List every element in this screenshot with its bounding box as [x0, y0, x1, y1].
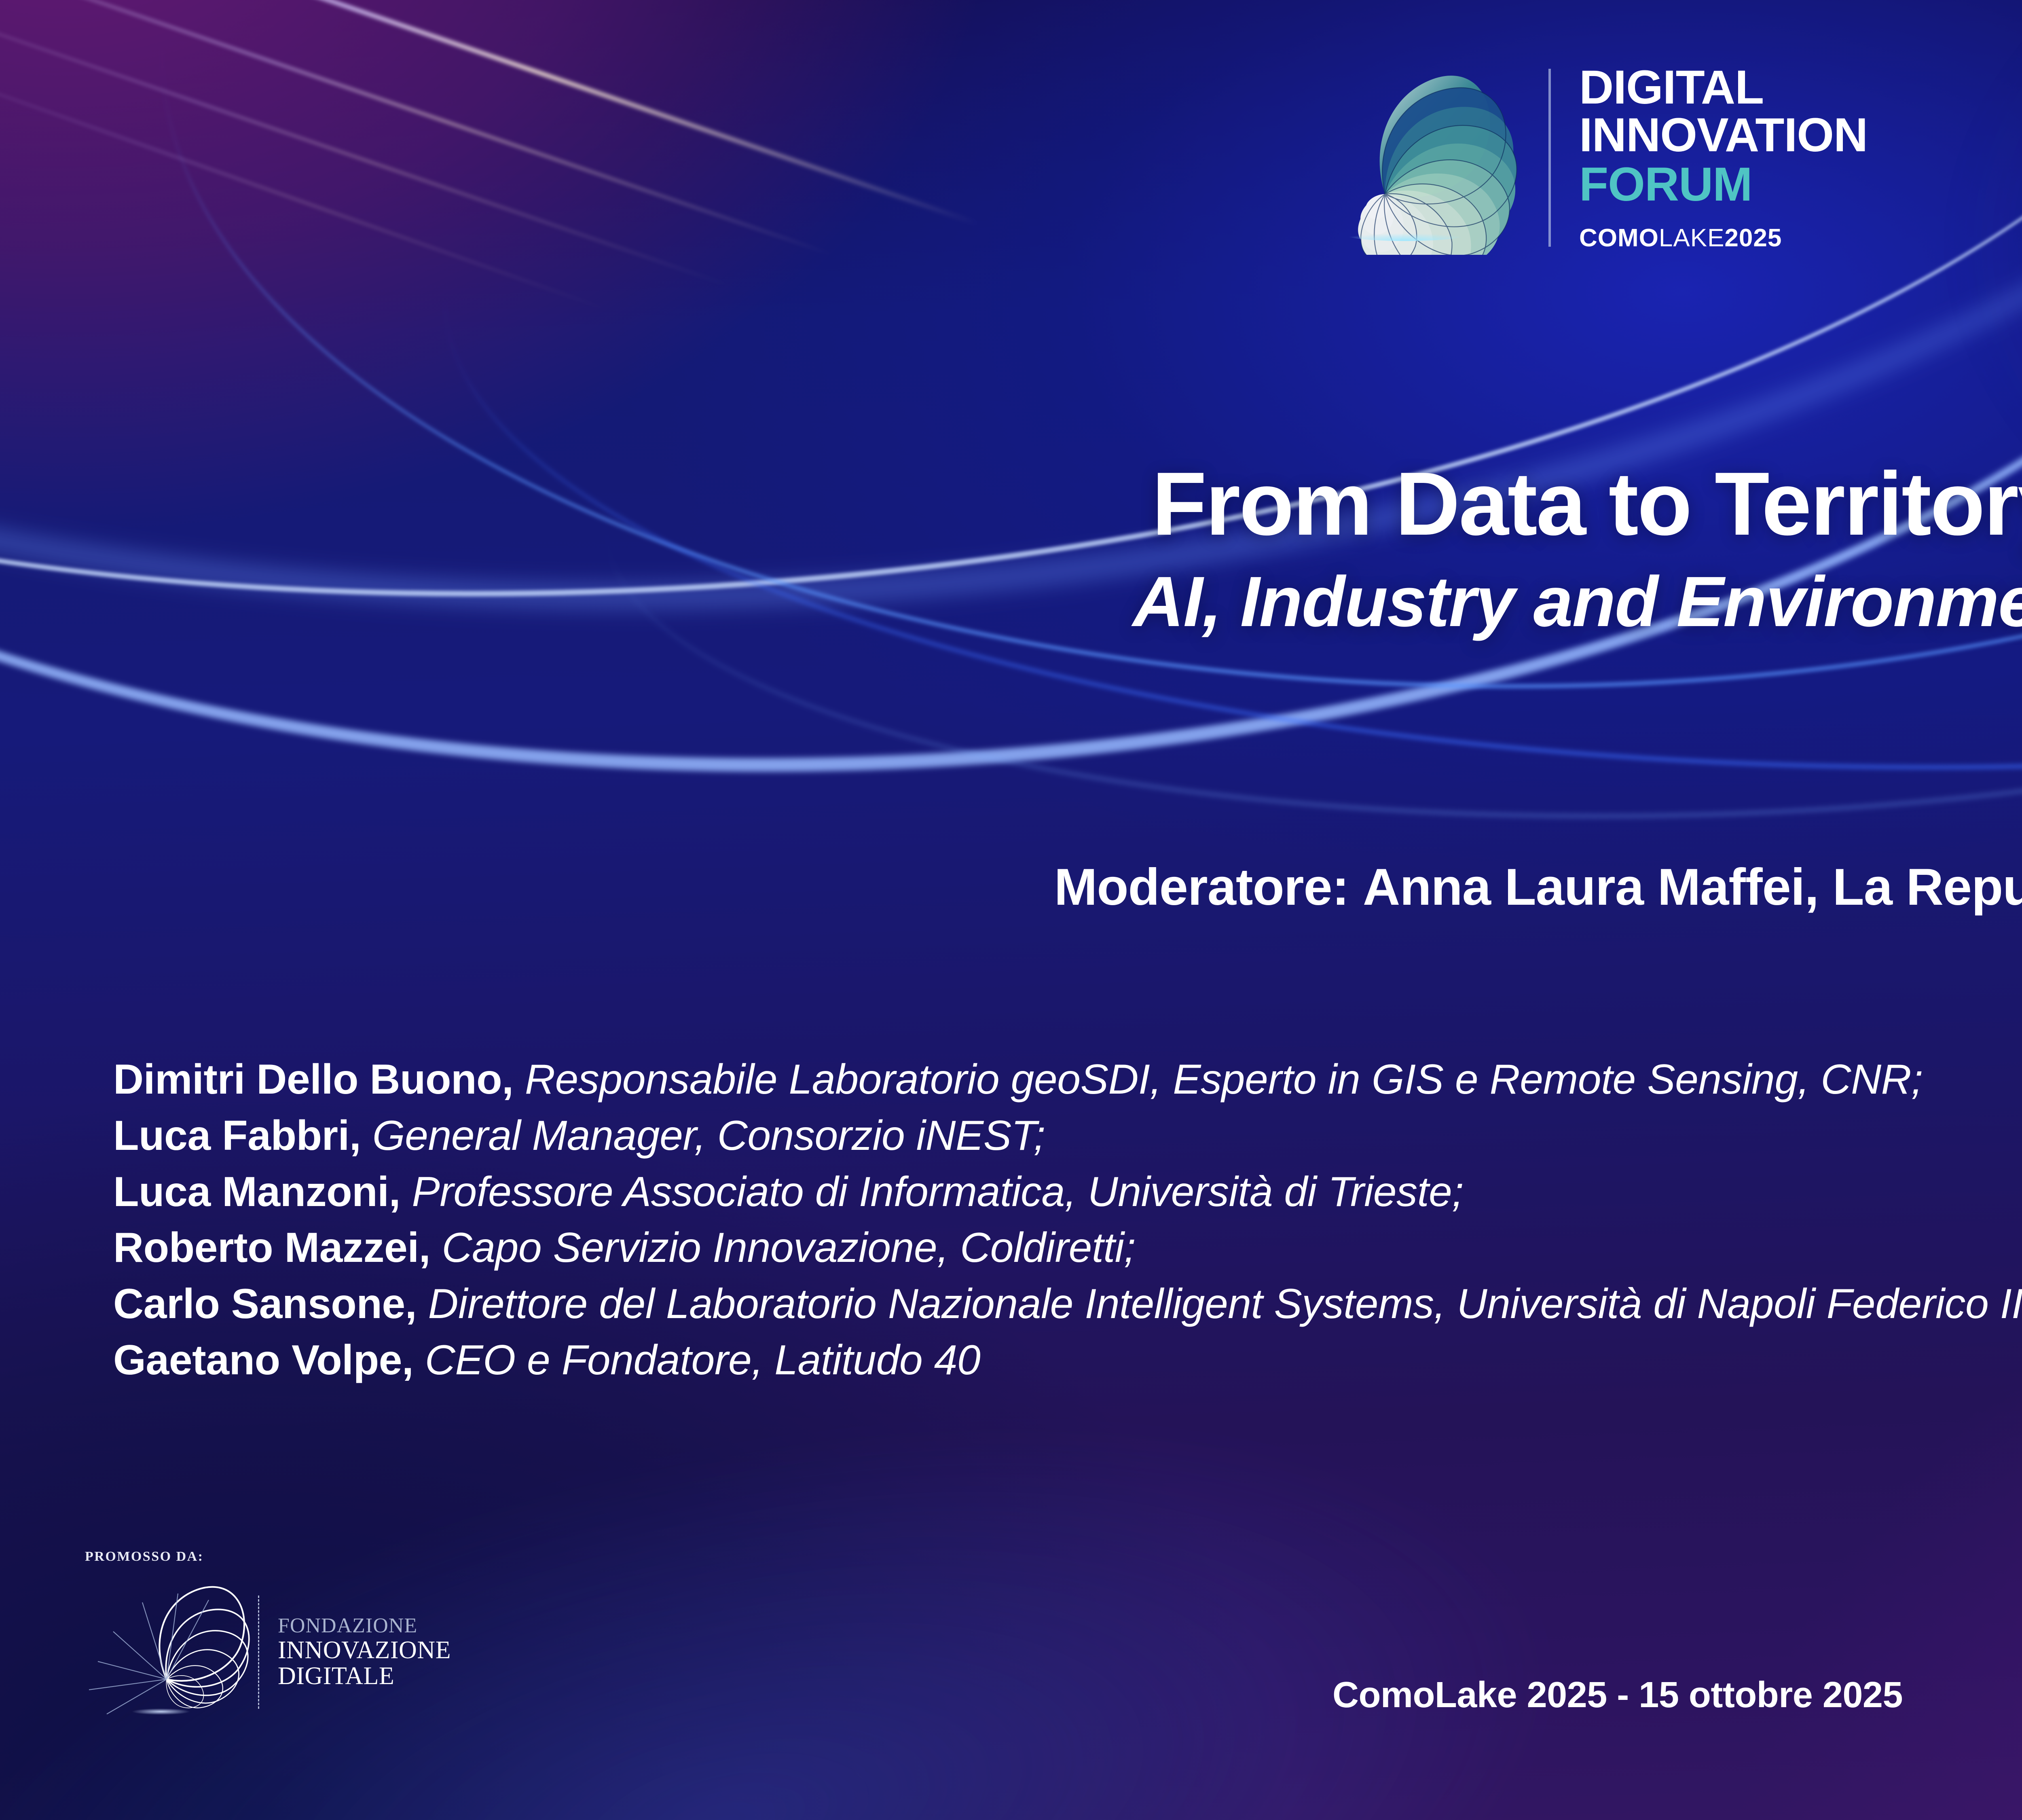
speakers-list: Dimitri Dello Buono, Responsabile Labora… [113, 1052, 2022, 1388]
list-item: Carlo Sansone, Direttore del Laboratorio… [113, 1276, 2022, 1332]
speaker-role: Professore Associato di Informatica, Uni… [400, 1168, 1464, 1215]
list-item: Roberto Mazzei, Capo Servizio Innovazion… [113, 1220, 2022, 1276]
presentation-slide: DIGITAL INNOVATION FORUM COMOLAKE2025 Se… [0, 0, 2022, 1820]
logo-year: 2025 [1724, 224, 1782, 252]
list-item: Dimitri Dello Buono, Responsabile Labora… [113, 1052, 2022, 1108]
speaker-name: Luca Manzoni, [113, 1168, 400, 1215]
logo-line-digital: DIGITAL [1579, 63, 1868, 111]
title-block: From Data to Territory. AI, Industry and… [0, 457, 2022, 643]
moderator-name: Anna Laura Maffei, La Repubblica [1363, 858, 2022, 916]
speaker-name: Carlo Sansone, [113, 1280, 417, 1327]
page-title: From Data to Territory. [0, 457, 2022, 551]
speaker-name: Dimitri Dello Buono, [113, 1056, 514, 1103]
moderator-line: Moderatore: Anna Laura Maffei, La Repubb… [0, 857, 2022, 917]
fondazione-line-2: INNOVAZIONE [278, 1637, 451, 1663]
nautilus-shell-icon [1308, 61, 1535, 255]
speaker-name: Roberto Mazzei, [113, 1224, 430, 1271]
promoted-by-label: PROMOSSO DA: [85, 1549, 204, 1564]
logo-wordmark: DIGITAL INNOVATION FORUM COMOLAKE2025 [1579, 63, 1868, 252]
list-item: Gaetano Volpe, CEO e Fondatore, Latitudo… [113, 1332, 2022, 1388]
event-date: ComoLake 2025 - 15 ottobre 2025 [0, 1674, 2022, 1716]
speaker-role: Capo Servizio Innovazione, Coldiretti; [430, 1224, 1136, 1271]
logo-line-innovation: INNOVATION [1579, 111, 1868, 159]
list-item: Luca Fabbri, General Manager, Consorzio … [113, 1108, 2022, 1164]
logo-como: COMO [1579, 224, 1659, 252]
slide-header: DIGITAL INNOVATION FORUM COMOLAKE2025 Se… [0, 0, 2022, 364]
logo-line-comolake2025: COMOLAKE2025 [1579, 224, 1868, 252]
speaker-name: Gaetano Volpe, [113, 1337, 413, 1384]
digital-innovation-forum-logo: DIGITAL INNOVATION FORUM COMOLAKE2025 [1308, 61, 1868, 255]
fondazione-line-1: FONDAZIONE [278, 1615, 451, 1637]
logo-lake: LAKE [1659, 224, 1725, 252]
list-item: Luca Manzoni, Professore Associato di In… [113, 1164, 2022, 1220]
moderator-label: Moderatore: [1054, 858, 1363, 916]
speaker-role: General Manager, Consorzio iNEST; [361, 1112, 1045, 1159]
speaker-name: Luca Fabbri, [113, 1112, 361, 1159]
logo-divider [1548, 69, 1551, 247]
speaker-role: CEO e Fondatore, Latitudo 40 [413, 1337, 980, 1384]
speaker-role: Responsabile Laboratorio geoSDI, Esperto… [514, 1056, 1923, 1103]
page-subtitle: AI, Industry and Environment [0, 561, 2022, 643]
speaker-role: Direttore del Laboratorio Nazionale Inte… [417, 1280, 2022, 1327]
logo-line-forum: FORUM [1579, 161, 1868, 208]
